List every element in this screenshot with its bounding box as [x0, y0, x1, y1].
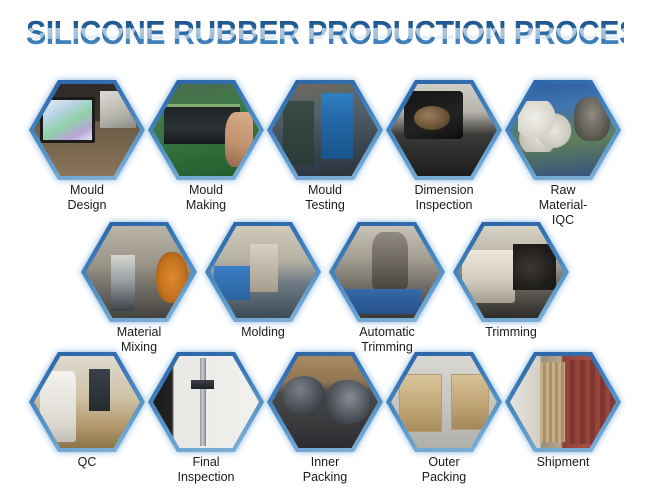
hexagon-frame	[453, 222, 569, 322]
hexagon-frame	[329, 222, 445, 322]
process-step[interactable]: Mould Testing	[266, 80, 385, 228]
hexagon-frame	[81, 222, 197, 322]
process-step-label: Final Inspection	[150, 455, 262, 485]
hexagon-frame	[148, 352, 264, 452]
hexagon-frame	[505, 352, 621, 452]
process-step[interactable]: Dimension Inspection	[385, 80, 504, 228]
process-step[interactable]: Trimming	[449, 222, 573, 355]
page-title: SILICONE RUBBER PRODUCTION PROCESS SILIC…	[0, 14, 650, 76]
hexagon-frame	[386, 80, 502, 180]
hexagon-frame	[267, 352, 383, 452]
process-step[interactable]: Material Mixing	[77, 222, 201, 355]
process-step[interactable]: Raw Material- IQC	[504, 80, 623, 228]
process-step-label: Mould Testing	[269, 183, 381, 213]
process-step[interactable]: QC	[28, 352, 147, 485]
process-step[interactable]: Mould Making	[147, 80, 266, 228]
process-step[interactable]: Final Inspection	[147, 352, 266, 485]
page-title-reflection: SILICONE RUBBER PRODUCTION PROCESS	[26, 28, 624, 46]
process-row-2: Material MixingMoldingAutomatic Trimming…	[0, 222, 650, 355]
hexagon-frame	[29, 352, 145, 452]
process-step[interactable]: Inner Packing	[266, 352, 385, 485]
process-step[interactable]: Molding	[201, 222, 325, 355]
process-step-label: Material Mixing	[83, 325, 195, 355]
hexagon-frame	[267, 80, 383, 180]
hexagon-frame	[505, 80, 621, 180]
process-step-label: Trimming	[455, 325, 567, 340]
process-step-label: Molding	[207, 325, 319, 340]
hexagon-frame	[386, 352, 502, 452]
process-step[interactable]: Shipment	[504, 352, 623, 485]
process-step-label: Mould Design	[31, 183, 143, 213]
process-step-label: Inner Packing	[269, 455, 381, 485]
process-step-label: Automatic Trimming	[331, 325, 443, 355]
process-step-label: QC	[31, 455, 143, 470]
process-step-label: Outer Packing	[388, 455, 500, 485]
process-row-3: QCFinal InspectionInner PackingOuter Pac…	[0, 352, 650, 485]
process-step-label: Mould Making	[150, 183, 262, 213]
hexagon-frame	[205, 222, 321, 322]
process-step[interactable]: Automatic Trimming	[325, 222, 449, 355]
hexagon-frame	[29, 80, 145, 180]
process-step-label: Dimension Inspection	[388, 183, 500, 213]
process-step-label: Shipment	[507, 455, 619, 470]
process-step[interactable]: Mould Design	[28, 80, 147, 228]
hexagon-frame	[148, 80, 264, 180]
process-row-1: Mould DesignMould MakingMould TestingDim…	[0, 80, 650, 228]
process-step[interactable]: Outer Packing	[385, 352, 504, 485]
